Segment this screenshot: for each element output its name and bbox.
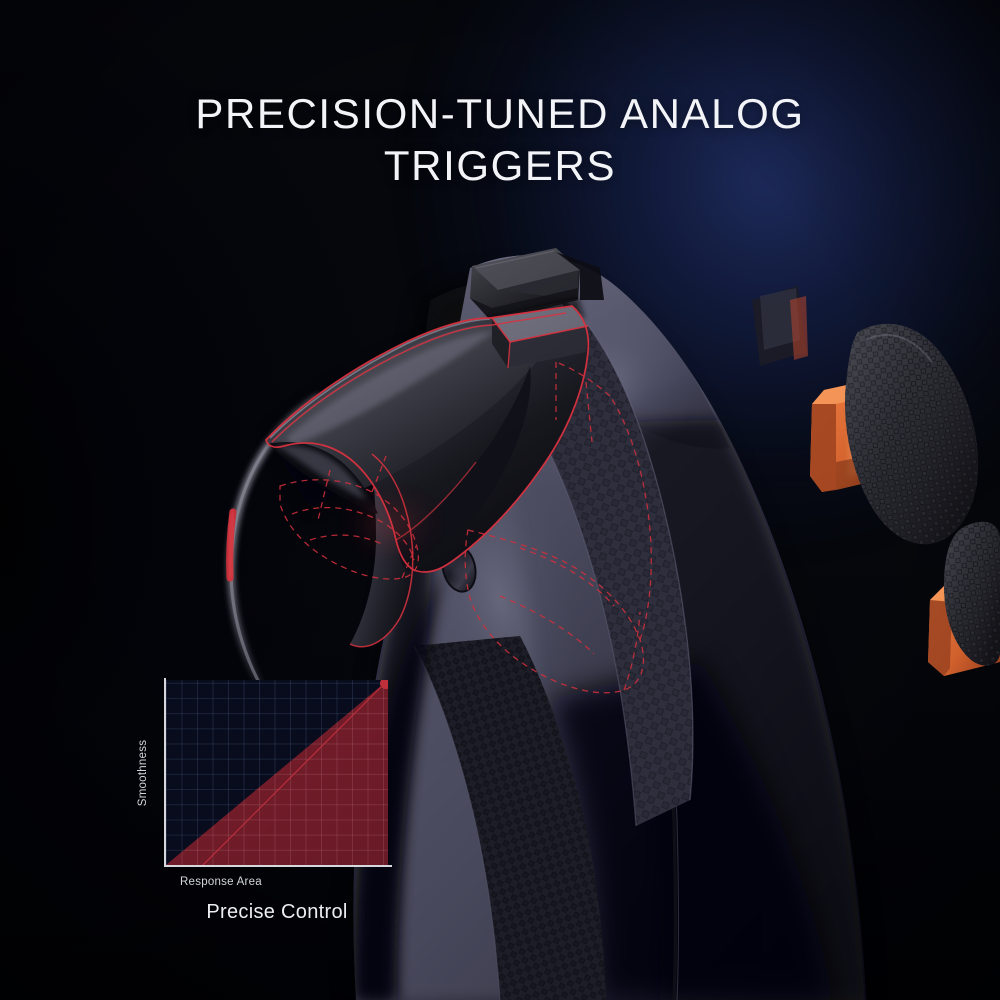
- chart-canvas: [158, 670, 400, 875]
- shoulder-assembly-lower: [928, 522, 1000, 676]
- chart-plot-box: [166, 680, 388, 865]
- shoulder-assembly-upper: [810, 324, 978, 544]
- page-title: PRECISION-TUNED ANALOG TRIGGERS: [0, 88, 1000, 192]
- chart-plot-area: Smoothness: [132, 670, 400, 875]
- chart-x-axis-line: [164, 865, 392, 867]
- headline-line-1: PRECISION-TUNED ANALOG: [60, 88, 940, 140]
- chart-endpoint-marker: [166, 680, 388, 865]
- headline-line-2: TRIGGERS: [60, 140, 940, 192]
- chart-y-axis-label: Smoothness: [132, 670, 154, 875]
- rubber-grip-ring-upper: [845, 324, 978, 544]
- chart-y-axis-label-text: Smoothness: [137, 739, 149, 805]
- chart-y-axis-line: [164, 678, 166, 867]
- product-feature-banner: PRECISION-TUNED ANALOG TRIGGERS Smoothne…: [0, 0, 1000, 1000]
- trigger-glow: [340, 484, 444, 564]
- precise-control-chart: Smoothness Response Area: [132, 670, 400, 924]
- chart-x-axis-label: Response Area: [180, 876, 400, 888]
- chart-caption: Precise Control: [132, 901, 400, 924]
